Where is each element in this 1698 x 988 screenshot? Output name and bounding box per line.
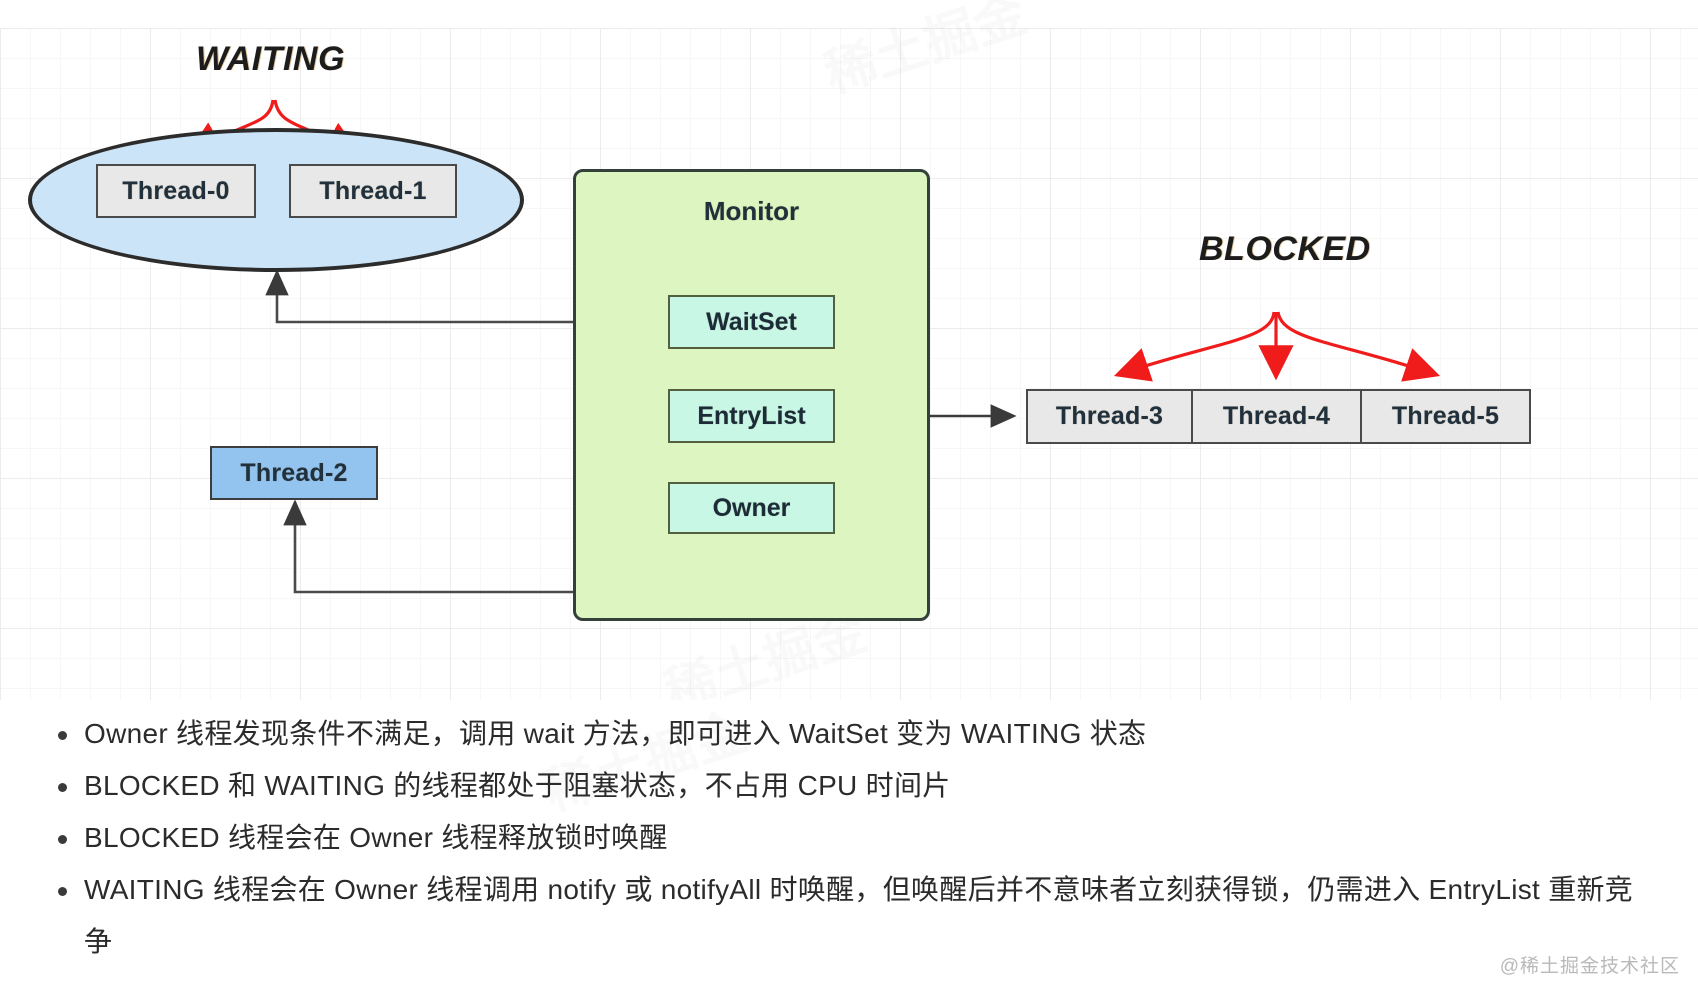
waiting-state-label: WAITING: [196, 40, 345, 79]
note-item: WAITING 线程会在 Owner 线程调用 notify 或 notifyA…: [40, 864, 1658, 968]
blocked-state-label: BLOCKED: [1199, 230, 1371, 269]
blocked-arrow-right: [1278, 312, 1434, 374]
thread-box-3[interactable]: Thread-3: [1026, 389, 1193, 444]
site-watermark: @稀土掘金技术社区: [1500, 951, 1680, 978]
note-item: BLOCKED 线程会在 Owner 线程释放锁时唤醒: [40, 812, 1658, 864]
thread-box-2[interactable]: Thread-2: [210, 446, 378, 500]
monitor-owner-box[interactable]: Owner: [668, 482, 835, 534]
monitor-entrylist-box[interactable]: EntryList: [668, 389, 835, 443]
blocked-arrow-left: [1120, 312, 1274, 374]
thread-box-1[interactable]: Thread-1: [289, 164, 457, 218]
note-item: Owner 线程发现条件不满足，调用 wait 方法，即可进入 WaitSet …: [40, 708, 1658, 760]
page-root: 稀土掘金 稀土掘金: [0, 0, 1698, 988]
thread-box-4[interactable]: Thread-4: [1192, 389, 1362, 444]
monitor-waitset-box[interactable]: WaitSet: [668, 295, 835, 349]
thread-box-0[interactable]: Thread-0: [96, 164, 256, 218]
thread-box-5[interactable]: Thread-5: [1361, 389, 1531, 444]
diagram-canvas: 稀土掘金 稀土掘金: [0, 0, 1698, 700]
notes-section: 稀土掘金 Owner 线程发现条件不满足，调用 wait 方法，即可进入 Wai…: [0, 700, 1698, 988]
note-item: BLOCKED 和 WAITING 的线程都处于阻塞状态，不占用 CPU 时间片: [40, 760, 1658, 812]
monitor-title: Monitor: [576, 196, 927, 227]
notes-list: Owner 线程发现条件不满足，调用 wait 方法，即可进入 WaitSet …: [40, 708, 1658, 968]
